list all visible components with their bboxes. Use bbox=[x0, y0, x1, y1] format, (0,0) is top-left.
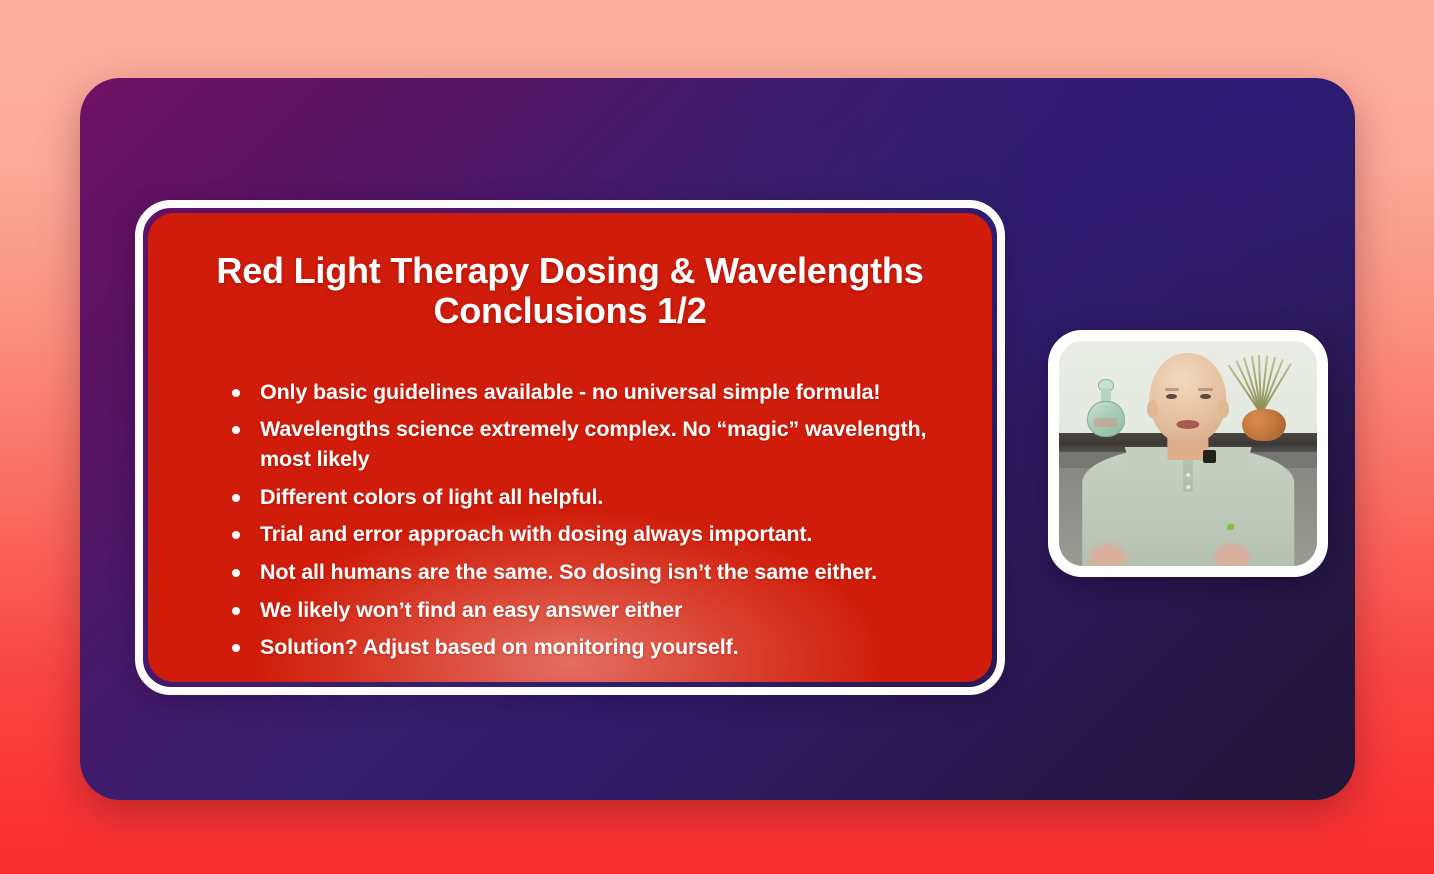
polo-button bbox=[1186, 485, 1190, 489]
presenter-ear-right bbox=[1218, 400, 1230, 418]
title-line-1: Red Light Therapy Dosing & Wavelengths bbox=[216, 250, 923, 291]
content-card: Red Light Therapy Dosing & Wavelengths C… bbox=[148, 213, 992, 682]
list-item: Not all humans are the same. So dosing i… bbox=[230, 558, 958, 588]
list-item-label: Solution? Adjust based on monitoring you… bbox=[260, 635, 738, 659]
bullet-dot-icon bbox=[232, 389, 240, 397]
list-item: Solution? Adjust based on monitoring you… bbox=[230, 633, 958, 663]
terracotta-vase bbox=[1242, 409, 1286, 442]
presenter-brow-right bbox=[1198, 388, 1212, 391]
list-item-label: Only basic guidelines available - no uni… bbox=[260, 380, 880, 404]
presenter-head bbox=[1149, 353, 1226, 443]
bullet-dot-icon bbox=[232, 644, 240, 652]
list-item-label: Not all humans are the same. So dosing i… bbox=[260, 560, 877, 584]
bullet-dot-icon bbox=[232, 531, 240, 539]
presenter-video-overlay bbox=[1048, 330, 1328, 577]
decanter-label bbox=[1094, 418, 1117, 427]
list-item-label: Wavelengths science extremely complex. N… bbox=[260, 417, 926, 471]
bullet-dot-icon bbox=[232, 569, 240, 577]
presenter-hand-right bbox=[1214, 544, 1250, 567]
list-item: Different colors of light all helpful. bbox=[230, 483, 958, 513]
list-item-label: Trial and error approach with dosing alw… bbox=[260, 522, 812, 546]
list-item-label: Different colors of light all helpful. bbox=[260, 485, 603, 509]
list-item: Only basic guidelines available - no uni… bbox=[230, 378, 958, 408]
polo-button bbox=[1186, 473, 1190, 477]
list-item: Trial and error approach with dosing alw… bbox=[230, 520, 958, 550]
content-card-frame: Red Light Therapy Dosing & Wavelengths C… bbox=[135, 200, 1005, 695]
lapel-microphone-icon bbox=[1203, 450, 1216, 462]
presenter-brow-left bbox=[1165, 388, 1179, 391]
bullet-dot-icon bbox=[232, 607, 240, 615]
page-title: Red Light Therapy Dosing & Wavelengths C… bbox=[182, 251, 958, 332]
list-item: We likely won’t find an easy answer eith… bbox=[230, 596, 958, 626]
presenter-video-frame bbox=[1059, 341, 1317, 566]
list-item-label: We likely won’t find an easy answer eith… bbox=[260, 598, 682, 622]
conclusions-list: Only basic guidelines available - no uni… bbox=[182, 378, 958, 663]
title-line-2: Conclusions 1/2 bbox=[433, 290, 706, 331]
presenter-mouth bbox=[1176, 420, 1199, 429]
dried-grass bbox=[1232, 355, 1289, 414]
shirt-logo bbox=[1227, 524, 1234, 530]
slide-panel: Red Light Therapy Dosing & Wavelengths C… bbox=[80, 78, 1355, 800]
bullet-dot-icon bbox=[232, 494, 240, 502]
presenter-ear-left bbox=[1147, 400, 1159, 418]
bullet-dot-icon bbox=[232, 426, 240, 434]
list-item: Wavelengths science extremely complex. N… bbox=[230, 415, 958, 474]
